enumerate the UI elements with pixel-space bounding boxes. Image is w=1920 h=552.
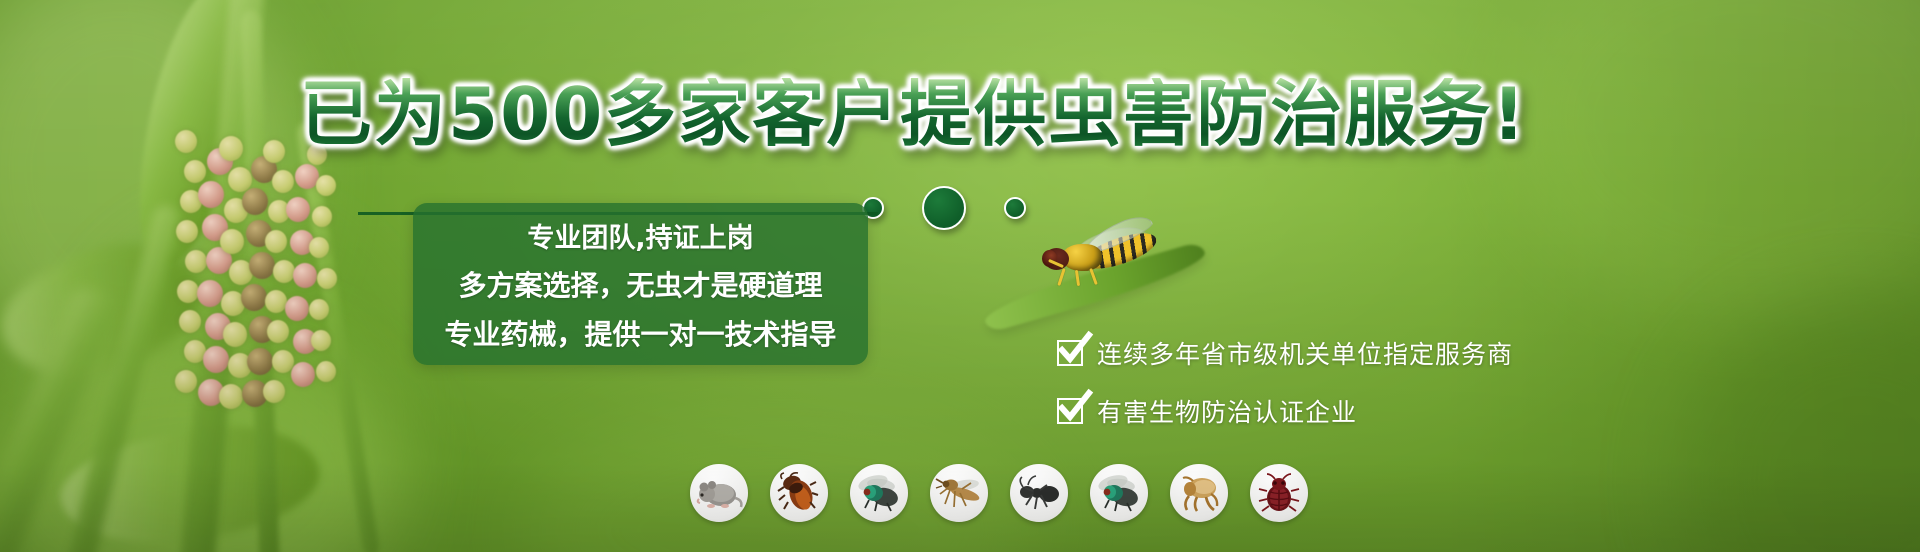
checkmark-icon	[1057, 398, 1083, 424]
decor-dot-small	[1004, 197, 1026, 219]
selling-point-line: 专业药械，提供一对一技术指导	[444, 313, 836, 353]
credentials-list: 连续多年省市级机关单位指定服务商 有害生物防治认证企业	[1057, 335, 1513, 429]
page-title: 已为500多家客户提供虫害防治服务!	[300, 78, 1527, 150]
fly-leg	[1057, 268, 1065, 286]
bottom-shadow	[0, 462, 1920, 552]
selling-point-line: 多方案选择，无虫才是硬道理	[458, 264, 822, 304]
decor-dot-large	[922, 186, 966, 230]
list-item: 有害生物防治认证企业	[1057, 393, 1513, 429]
hoverfly-icon	[1036, 228, 1160, 286]
list-item: 连续多年省市级机关单位指定服务商	[1057, 335, 1513, 371]
fly-leg	[1075, 270, 1080, 286]
fly-leg	[1089, 268, 1098, 285]
decorative-dots	[862, 186, 1026, 230]
credential-label: 有害生物防治认证企业	[1097, 393, 1357, 429]
checkmark-icon	[1057, 340, 1083, 366]
selling-points-panel: 专业团队,持证上岗 多方案选择，无虫才是硬道理 专业药械，提供一对一技术指导	[413, 203, 868, 365]
selling-point-line: 专业团队,持证上岗	[527, 216, 753, 255]
credential-label: 连续多年省市级机关单位指定服务商	[1097, 335, 1513, 371]
pest-control-hero-banner: 已为500多家客户提供虫害防治服务! 专业团队,持证上岗 多方案选择，无虫才是硬…	[0, 0, 1920, 552]
